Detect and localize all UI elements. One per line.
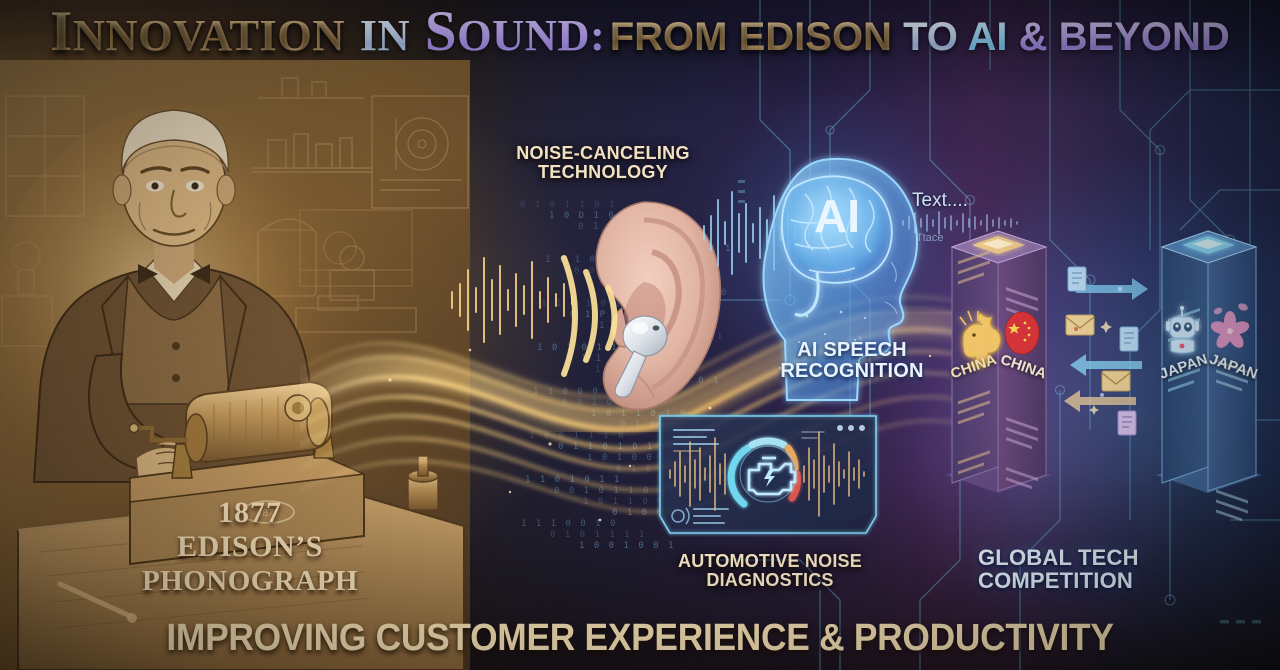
grain-texture-layer [0, 0, 1280, 670]
infographic-canvas: 0 1 0 1 1 0 11 0 D 1 0 1 00 1 0 1 U V S1… [0, 0, 1280, 670]
